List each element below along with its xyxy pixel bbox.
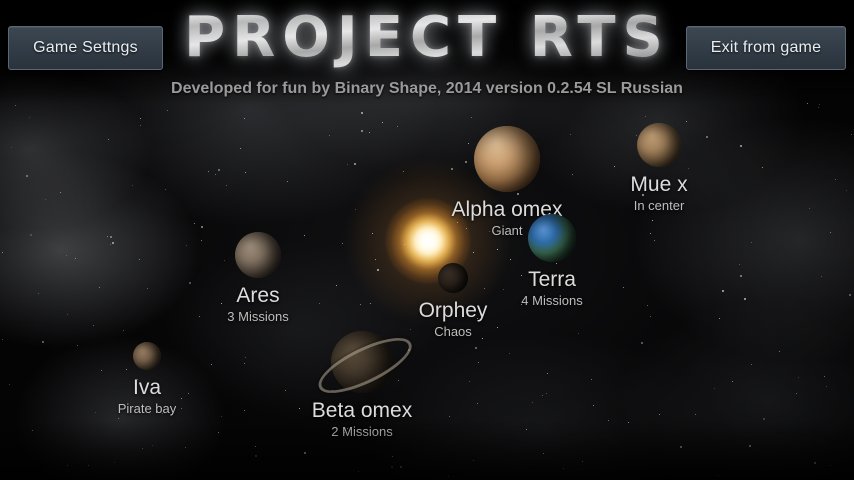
game-settings-button[interactable]: Game Settngs (8, 26, 163, 70)
exit-game-label: Exit from game (711, 39, 821, 57)
planet-icon (528, 214, 576, 262)
exit-game-button[interactable]: Exit from game (686, 26, 846, 70)
planet-icon (133, 342, 161, 370)
planet-icon (637, 123, 681, 167)
game-settings-label: Game Settngs (33, 39, 138, 57)
planet-icon (438, 263, 468, 293)
game-screen: Iva Pirate bay Ares 3 Missions Beta omex… (0, 0, 854, 480)
planet-icon (235, 232, 281, 278)
planet-icon (474, 126, 540, 192)
